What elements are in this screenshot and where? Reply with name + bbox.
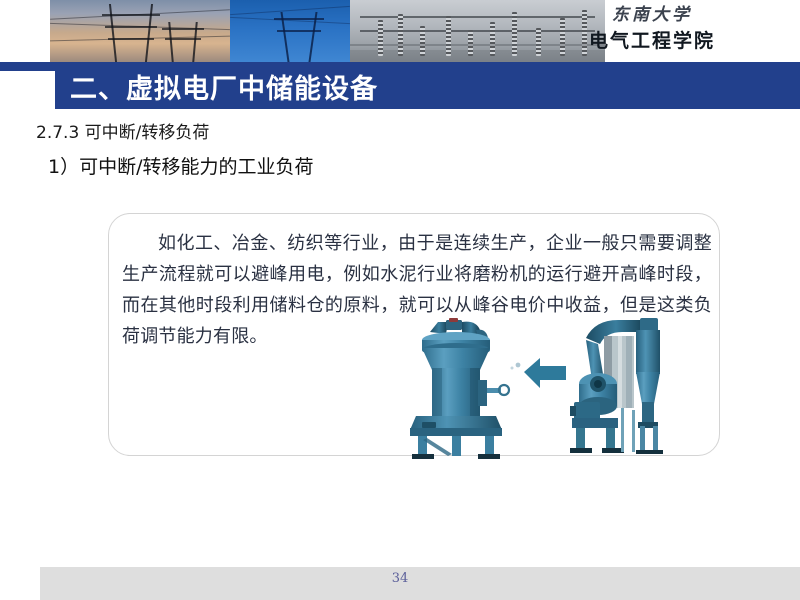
- logo-university-name: 东南大学: [568, 4, 736, 26]
- page-title: 二、虚拟电厂中储能设备: [70, 71, 378, 109]
- photo-transmission-tower-sunset: [50, 0, 230, 62]
- machinery-illustration: [390, 318, 680, 463]
- left-arrow-icon: [524, 358, 566, 388]
- logo-school-name: 电气工程学院: [568, 28, 736, 54]
- page-number: 34: [0, 571, 800, 586]
- photo-substation-equipment: [350, 0, 605, 62]
- presentation-slide: 东南大学 电气工程学院 二、虚拟电厂中储能设备 2.7.3 可中断/转移负荷 1…: [0, 0, 800, 600]
- right-machine-group: [570, 318, 663, 454]
- item-heading: 1）可中断/转移能力的工业负荷: [48, 152, 314, 179]
- university-logo: 东南大学 电气工程学院: [568, 4, 736, 54]
- header-photo-strip: 东南大学 电气工程学院: [50, 0, 750, 62]
- left-machine-group: [410, 318, 509, 459]
- title-top-rule: [0, 62, 800, 71]
- section-heading: 2.7.3 可中断/转移负荷: [36, 118, 209, 143]
- photo-transmission-tower-blue-sky: [230, 0, 350, 62]
- title-band-notch: [0, 71, 55, 109]
